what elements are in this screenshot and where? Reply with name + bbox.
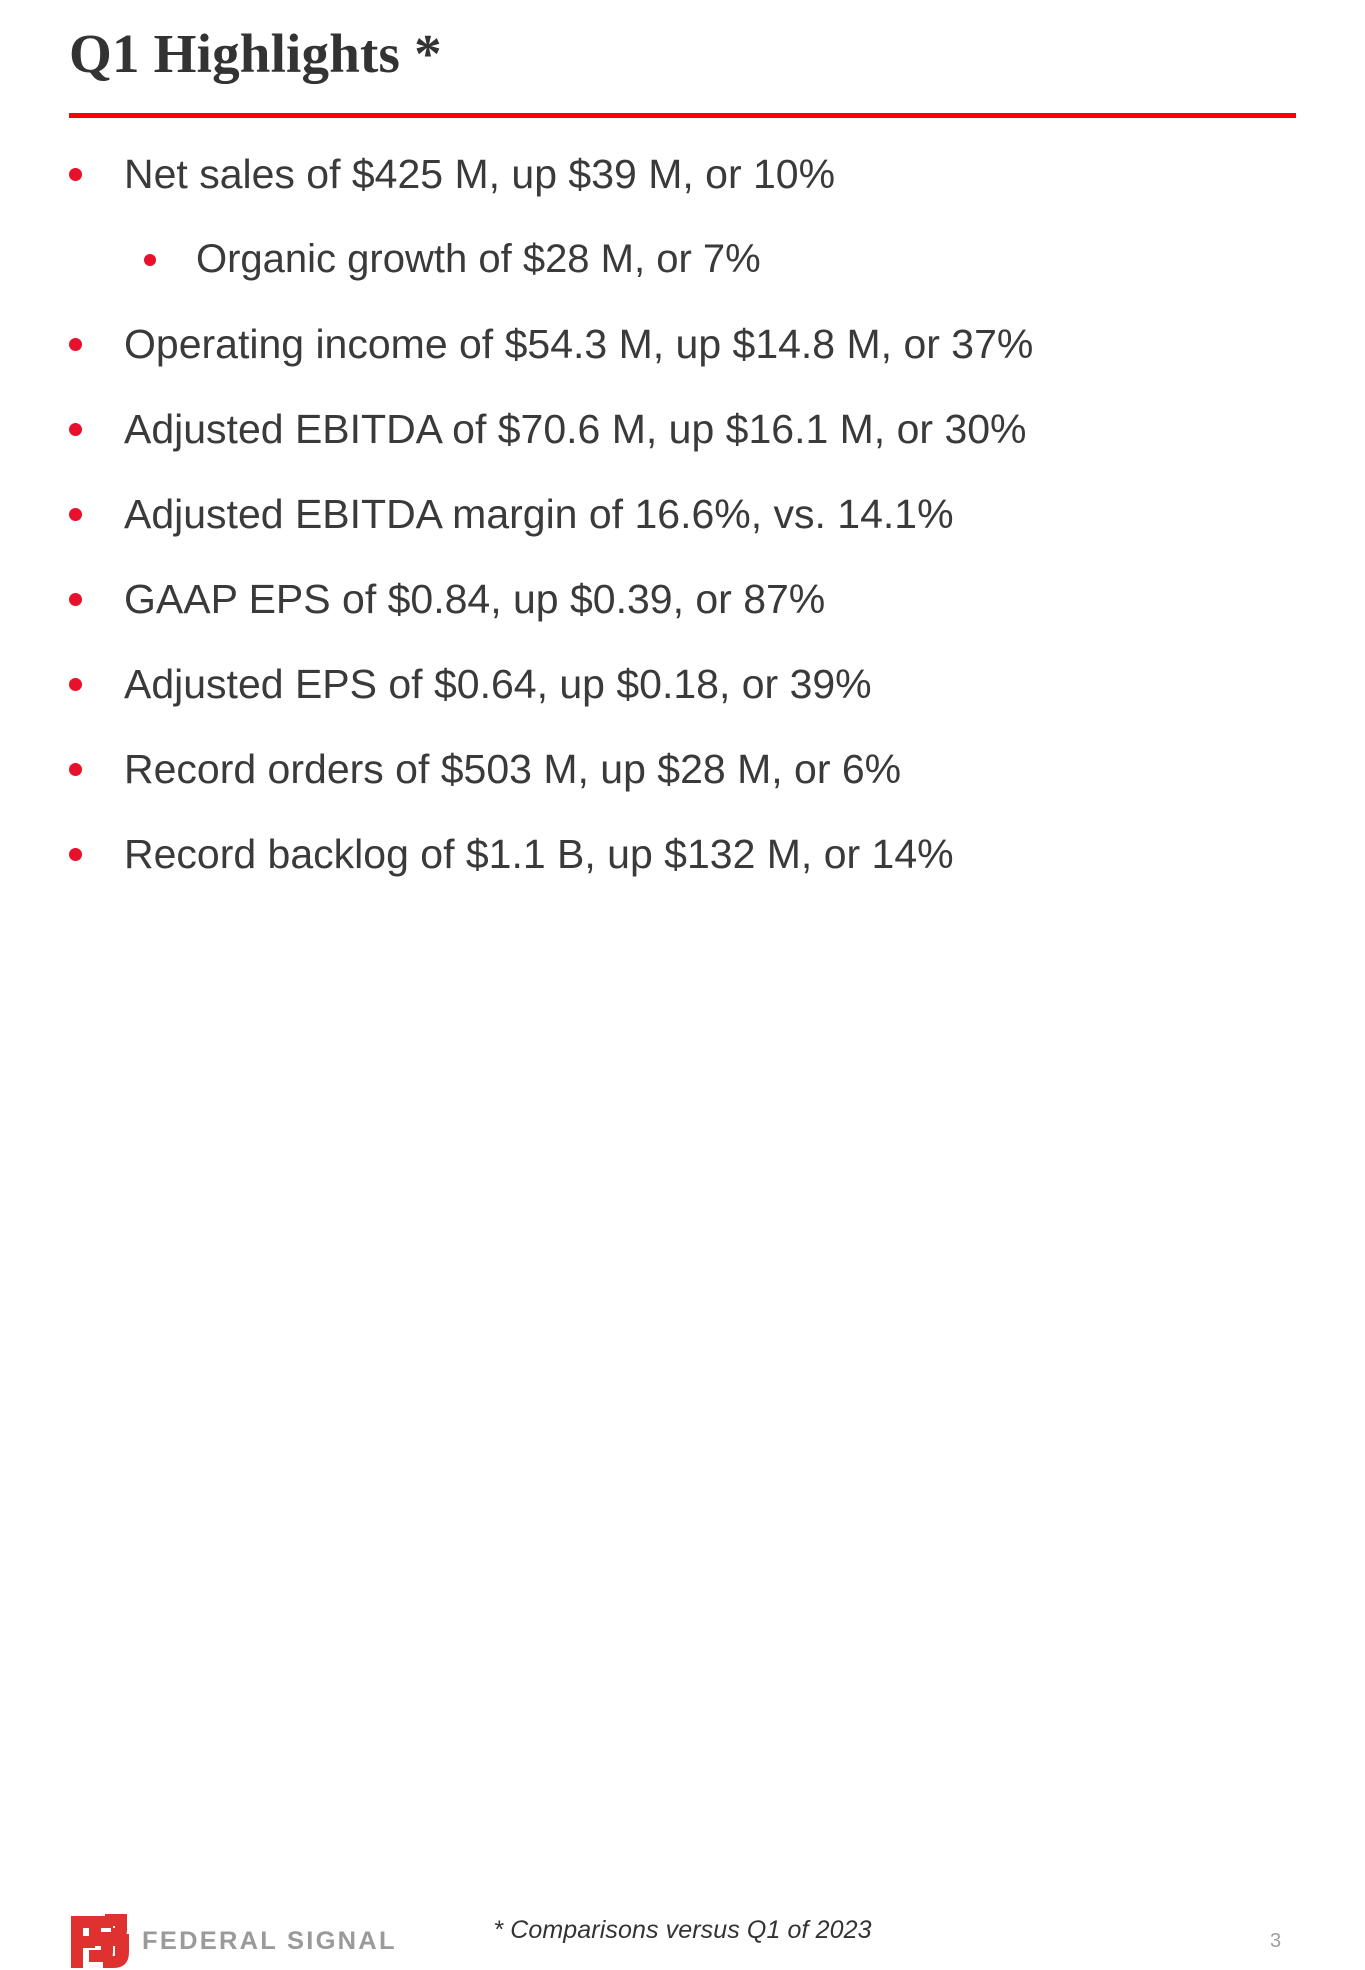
list-item: Adjusted EBITDA of $70.6 M, up $16.1 M, … bbox=[0, 405, 1365, 490]
bullet-dot-icon bbox=[69, 168, 82, 181]
bullet-dot-icon bbox=[69, 848, 82, 861]
highlights-list: Net sales of $425 M, up $39 M, or 10% Or… bbox=[0, 150, 1365, 915]
list-item-label: Adjusted EBITDA of $70.6 M, up $16.1 M, … bbox=[124, 405, 1027, 454]
page-title: Q1 Highlights * bbox=[69, 22, 1296, 86]
title-divider bbox=[69, 113, 1296, 118]
list-item-label: Operating income of $54.3 M, up $14.8 M,… bbox=[124, 320, 1033, 369]
page-number: 3 bbox=[1270, 1930, 1281, 1953]
slide-footer: FEDERAL SIGNAL * Comparisons versus Q1 o… bbox=[0, 950, 1365, 1055]
list-item-label: Record backlog of $1.1 B, up $132 M, or … bbox=[124, 830, 954, 879]
list-item-label: Adjusted EBITDA margin of 16.6%, vs. 14.… bbox=[124, 490, 954, 539]
footnote: * Comparisons versus Q1 of 2023 bbox=[0, 1916, 1365, 1945]
list-item-label: Organic growth of $28 M, or 7% bbox=[196, 235, 761, 284]
bullet-dot-icon bbox=[69, 508, 82, 521]
list-item: GAAP EPS of $0.84, up $0.39, or 87% bbox=[0, 575, 1365, 660]
bullet-dot-icon bbox=[69, 423, 82, 436]
list-item: Record backlog of $1.1 B, up $132 M, or … bbox=[0, 830, 1365, 915]
list-item: Record orders of $503 M, up $28 M, or 6% bbox=[0, 745, 1365, 830]
list-item-label: Net sales of $425 M, up $39 M, or 10% bbox=[124, 150, 835, 199]
list-item-label: GAAP EPS of $0.84, up $0.39, or 87% bbox=[124, 575, 825, 624]
bullet-dot-icon bbox=[69, 593, 82, 606]
bullet-dot-icon bbox=[69, 763, 82, 776]
list-item-label: Record orders of $503 M, up $28 M, or 6% bbox=[124, 745, 901, 794]
list-item: Net sales of $425 M, up $39 M, or 10% bbox=[0, 150, 1365, 235]
list-item: Operating income of $54.3 M, up $14.8 M,… bbox=[0, 320, 1365, 405]
slide: Q1 Highlights * Net sales of $425 M, up … bbox=[0, 0, 1365, 1055]
list-item-label: Adjusted EPS of $0.64, up $0.18, or 39% bbox=[124, 660, 872, 709]
bullet-dot-icon bbox=[144, 254, 156, 266]
list-item: Adjusted EBITDA margin of 16.6%, vs. 14.… bbox=[0, 490, 1365, 575]
list-item: Adjusted EPS of $0.64, up $0.18, or 39% bbox=[0, 660, 1365, 745]
bullet-dot-icon bbox=[69, 678, 82, 691]
list-item: Organic growth of $28 M, or 7% bbox=[0, 235, 1365, 320]
title-block: Q1 Highlights * bbox=[69, 22, 1296, 86]
bullet-dot-icon bbox=[69, 338, 82, 351]
